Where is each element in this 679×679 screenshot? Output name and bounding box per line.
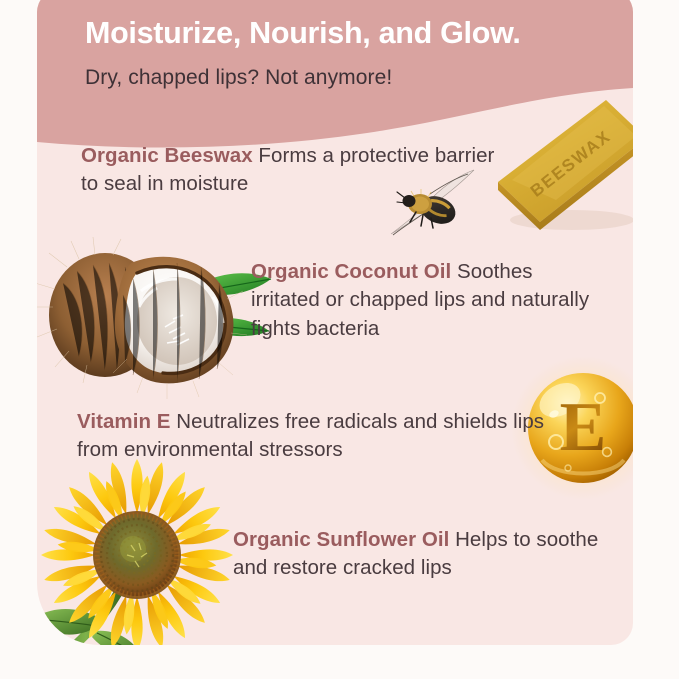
ingredient-text-vitamin-e: Vitamin E Neutralizes free radicals and … bbox=[77, 408, 547, 465]
sunflower-image bbox=[37, 467, 257, 645]
ingredient-text-beeswax: Organic Beeswax Forms a protective barri… bbox=[81, 142, 501, 199]
ingredient-name-vitamin-e: Vitamin E bbox=[77, 410, 176, 433]
ingredient-name-sunflower: Organic Sunflower Oil bbox=[233, 528, 455, 551]
page-subtitle: Dry, chapped lips? Not anymore! bbox=[85, 66, 605, 90]
ingredient-name-coconut: Organic Coconut Oil bbox=[251, 260, 457, 283]
ingredient-text-sunflower: Organic Sunflower Oil Helps to soothe an… bbox=[233, 526, 603, 583]
page-title: Moisturize, Nourish, and Glow. bbox=[85, 16, 605, 51]
ingredient-name-beeswax: Organic Beeswax bbox=[81, 144, 258, 167]
vitamin-e-letter: E bbox=[560, 389, 607, 466]
content-card: Moisturize, Nourish, and Glow. Dry, chap… bbox=[37, 0, 633, 645]
infographic-stage: Moisturize, Nourish, and Glow. Dry, chap… bbox=[0, 0, 679, 679]
beeswax-bar-image: BEESWAX bbox=[486, 94, 633, 239]
ingredient-text-coconut: Organic Coconut Oil Soothes irritated or… bbox=[251, 258, 601, 343]
coconut-image bbox=[37, 233, 282, 393]
